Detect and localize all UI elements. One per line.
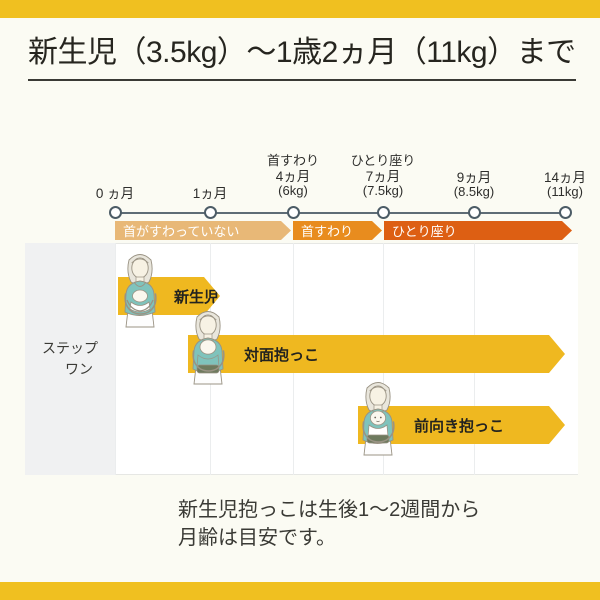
row-label-step-one: ステップ ワン bbox=[25, 243, 115, 475]
footnote-line2: 月齢は目安です。 bbox=[178, 524, 578, 552]
tick-milestone: ひとり座り bbox=[351, 154, 416, 169]
footnote-line1: 新生児抱っこは生後1〜2週間から bbox=[178, 496, 578, 524]
tick-weight: (6kg) bbox=[267, 184, 319, 199]
bottom-brand-band bbox=[0, 582, 600, 600]
tick-months: 9ヵ月 bbox=[454, 170, 494, 185]
axis-tick-dot bbox=[109, 206, 122, 219]
axis-tick-dot bbox=[377, 206, 390, 219]
mother-baby-figure-icon bbox=[352, 378, 404, 456]
timeline-tick-label: ひとり座り7ヵ月(7.5kg) bbox=[351, 154, 416, 198]
timeline-tick-label: 0 ヵ月 bbox=[96, 186, 134, 201]
phase-bar: 首すわり bbox=[293, 221, 382, 240]
top-brand-band bbox=[0, 0, 600, 18]
carry-mode-bar: 対面抱っこ bbox=[188, 335, 565, 373]
timeline-tick-label: 14ヵ月(11kg) bbox=[544, 170, 586, 200]
timeline-axis: 0 ヵ月1ヵ月首すわり4ヵ月(6kg)ひとり座り7ヵ月(7.5kg)9ヵ月(8.… bbox=[0, 138, 600, 220]
tick-weight: (11kg) bbox=[544, 185, 586, 200]
tick-months: 14ヵ月 bbox=[544, 170, 586, 185]
page-title: 新生児（3.5kg）〜1歳2ヵ月（11kg）まで bbox=[28, 34, 576, 72]
tick-months: 7ヵ月 bbox=[351, 169, 416, 184]
phase-bar: ひとり座り bbox=[384, 221, 572, 240]
phase-bar: 首がすわっていない bbox=[115, 221, 291, 240]
tick-milestone: 首すわり bbox=[267, 154, 319, 169]
axis-tick-dot bbox=[204, 206, 217, 219]
phase-bar-label: 首すわり bbox=[301, 221, 353, 240]
phase-bar-label: 首がすわっていない bbox=[123, 221, 239, 240]
tick-months: 4ヵ月 bbox=[267, 169, 319, 184]
title-underline bbox=[28, 79, 576, 81]
mother-baby-figure-icon bbox=[114, 250, 166, 328]
mother-baby-figure-icon bbox=[182, 307, 234, 385]
timeline-tick-label: 1ヵ月 bbox=[193, 186, 228, 201]
title-block: 新生児（3.5kg）〜1歳2ヵ月（11kg）まで bbox=[28, 34, 576, 81]
tick-months: 1ヵ月 bbox=[193, 186, 228, 201]
tick-weight: (7.5kg) bbox=[351, 184, 416, 199]
tick-months: 0 ヵ月 bbox=[96, 186, 134, 201]
timeline-tick-label: 首すわり4ヵ月(6kg) bbox=[267, 154, 319, 198]
footnote: 新生児抱っこは生後1〜2週間から 月齢は目安です。 bbox=[178, 496, 578, 553]
axis-tick-dot bbox=[559, 206, 572, 219]
phase-bar-label: ひとり座り bbox=[392, 221, 457, 240]
tick-weight: (8.5kg) bbox=[454, 185, 494, 200]
timeline-tick-label: 9ヵ月(8.5kg) bbox=[454, 170, 494, 200]
axis-tick-dot bbox=[468, 206, 481, 219]
axis-tick-dot bbox=[287, 206, 300, 219]
axis-line bbox=[115, 212, 565, 214]
row-label-line2: ワン bbox=[47, 359, 93, 380]
row-label-line1: ステップ bbox=[42, 338, 98, 359]
